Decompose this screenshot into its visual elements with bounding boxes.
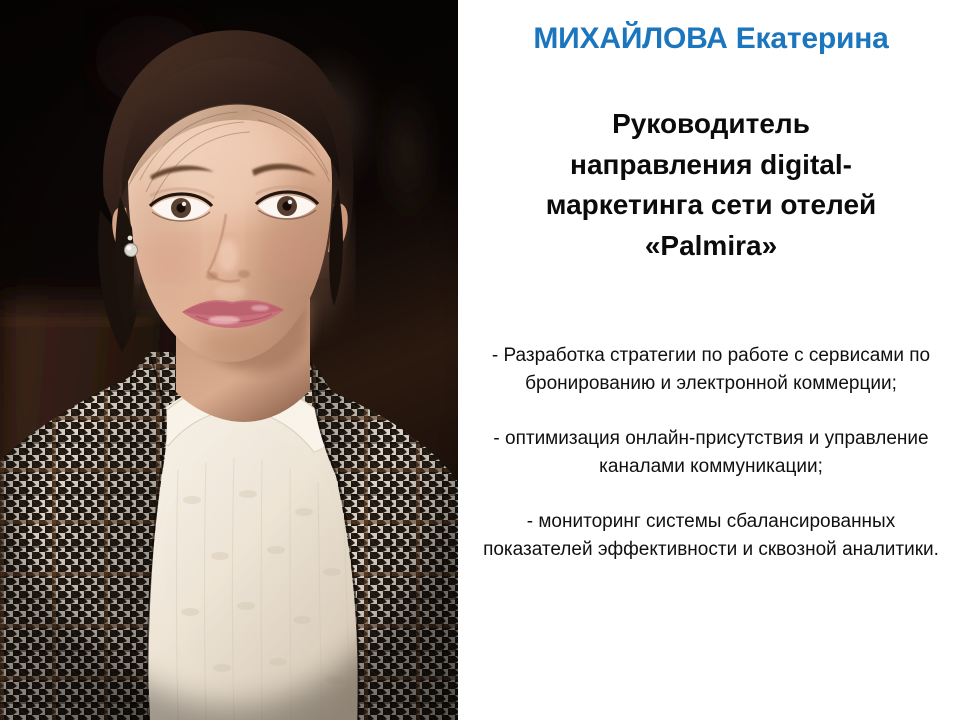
speaker-role-line-2: направления digital- [476, 145, 946, 186]
duty-item: - Разработка стратегии по работе с серви… [474, 342, 948, 397]
speaker-role-line-1: Руководитель [476, 104, 946, 145]
presentation-slide: МИХАЙЛОВА Екатерина Руководитель направл… [0, 0, 960, 720]
duty-item: - оптимизация онлайн-присутствия и управ… [474, 425, 948, 480]
speaker-name: МИХАЙЛОВА Екатерина [468, 22, 954, 56]
speaker-role-line-4: «Palmira» [476, 226, 946, 267]
speaker-role: Руководитель направления digital- маркет… [476, 104, 946, 266]
duty-item: - мониторинг системы сбалансированных по… [474, 508, 948, 563]
speaker-info-panel: МИХАЙЛОВА Екатерина Руководитель направл… [458, 0, 960, 720]
speaker-photo [0, 0, 458, 720]
speaker-photo-image [0, 0, 458, 720]
speaker-role-line-3: маркетинга сети отелей [476, 185, 946, 226]
duties-list: - Разработка стратегии по работе с серви… [474, 342, 948, 563]
